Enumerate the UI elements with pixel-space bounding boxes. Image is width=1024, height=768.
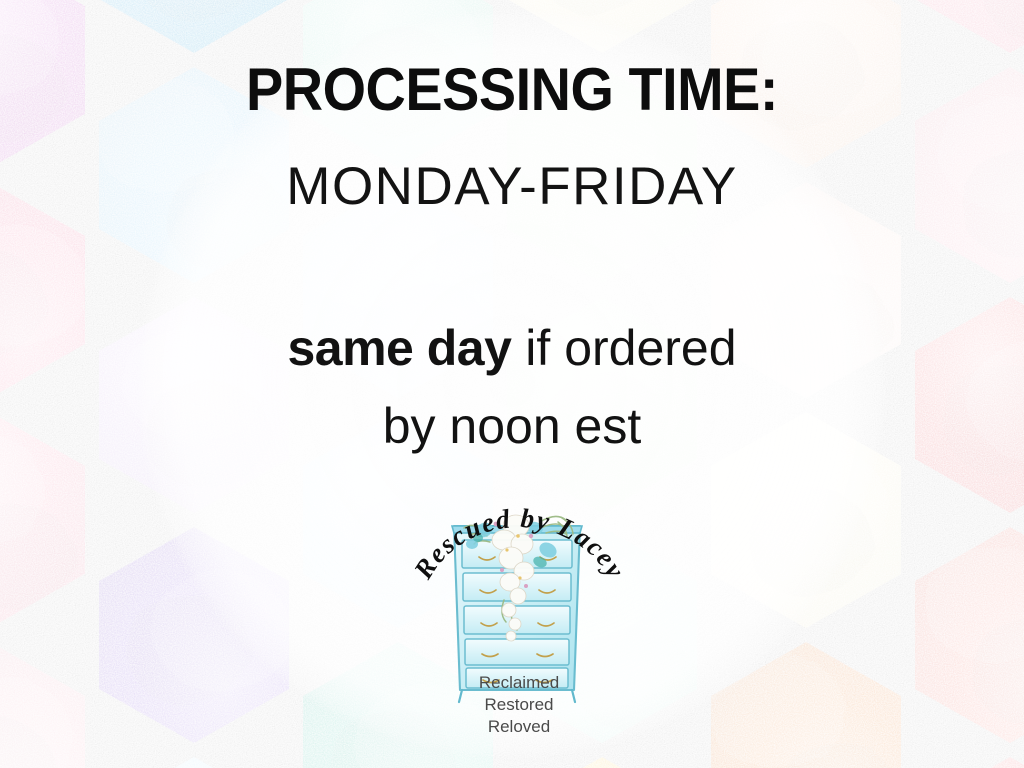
brand-logo: Rescued by Lacey Reclaimed Restored Relo… bbox=[412, 478, 627, 738]
logo-artwork: Rescued by Lacey Reclaimed Restored Relo… bbox=[412, 478, 627, 738]
tagline-line-3: Reloved bbox=[488, 717, 550, 736]
order-line-1: same day if ordered bbox=[0, 320, 1024, 376]
days-line: MONDAY-FRIDAY bbox=[0, 158, 1024, 216]
logo-tagline: Reclaimed Restored Reloved bbox=[479, 673, 559, 736]
same-day-emphasis: same day bbox=[287, 320, 511, 376]
page-title: PROCESSING TIME: bbox=[36, 58, 988, 122]
tagline-line-2: Restored bbox=[485, 695, 554, 714]
order-line-1-rest: if ordered bbox=[511, 320, 736, 376]
tagline-line-1: Reclaimed bbox=[479, 673, 559, 692]
announcement-graphic: PROCESSING TIME: MONDAY-FRIDAY same day … bbox=[0, 0, 1024, 768]
order-line-2: by noon est bbox=[0, 398, 1024, 454]
